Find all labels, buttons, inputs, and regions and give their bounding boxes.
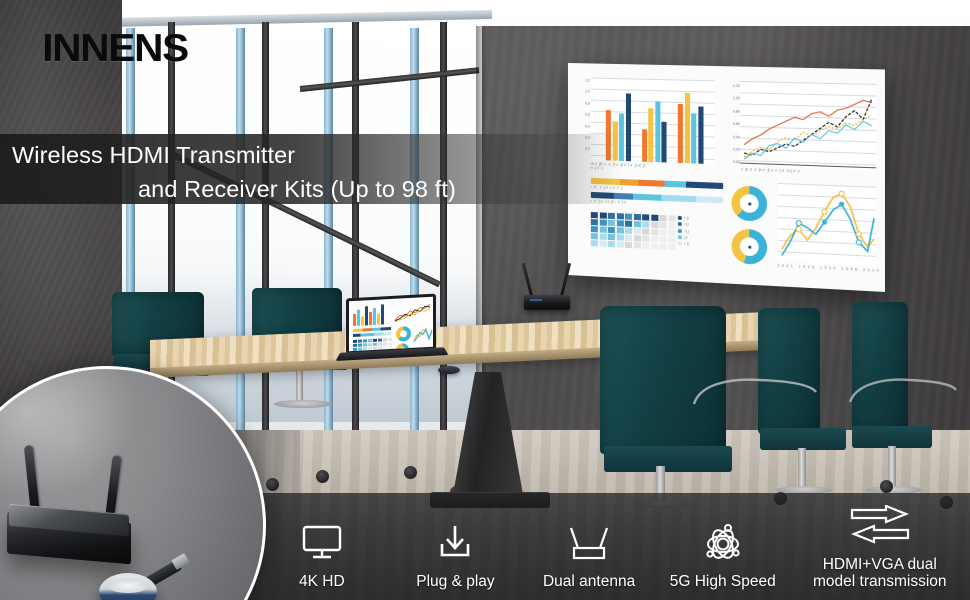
chair-caster — [880, 480, 893, 493]
feature-label: HDMI+VGA dual model transmission — [813, 556, 947, 590]
bar-group — [678, 79, 703, 163]
chart-legend: ı,˙ʃl ı˙ʃ,l ˙ıl,ʃ ʃ,ıl˙ ı,˙ʃl — [678, 216, 689, 249]
feature-label: Dual antenna — [543, 573, 635, 590]
laptop-lid — [346, 294, 436, 355]
receiver-product — [7, 501, 131, 559]
feature-dual-antenna: Dual antenna — [522, 520, 656, 600]
chair-caster — [316, 470, 329, 483]
feature-label: 5G High Speed — [670, 573, 776, 590]
feature-hdmi-vga-dual: HDMI+VGA dual model transmission — [790, 503, 970, 600]
feature-4k-hd: 4K HD — [255, 520, 389, 600]
feature-label-line-1: HDMI+VGA dual — [823, 556, 937, 573]
status-led — [530, 299, 542, 301]
chart-donut-2 — [732, 228, 768, 265]
monitor-icon — [301, 520, 343, 566]
chair-caster — [266, 478, 279, 491]
feature-list: 4K HD Plug & play Dual antenna — [255, 493, 970, 600]
window-mullion — [324, 28, 333, 492]
window-mullion — [410, 28, 419, 492]
headline-line-1: Wireless HDMI Transmitter — [0, 138, 640, 172]
chart-wave — [778, 183, 877, 266]
chart-donut-1 — [732, 185, 768, 221]
window-mullion — [236, 28, 245, 492]
headline: Wireless HDMI Transmitter and Receiver K… — [0, 134, 640, 204]
table-puck — [438, 366, 460, 374]
feature-5g-high-speed: 5G High Speed — [656, 520, 790, 600]
window-mullion-dark — [262, 22, 269, 492]
line-series-svg — [740, 81, 876, 170]
transmitter-product — [99, 557, 203, 600]
feature-plug-and-play: Plug & play — [389, 520, 523, 600]
laptop-screen — [349, 297, 433, 351]
feature-label-line-2: model transmission — [813, 573, 947, 590]
headline-line-2: and Receiver Kits (Up to 98 ft) — [0, 172, 640, 206]
window-mullion-dark — [352, 22, 359, 492]
window-mullion-dark — [440, 22, 447, 492]
feature-label: 4K HD — [299, 573, 345, 590]
laptop — [340, 296, 436, 368]
wall-mounted-receiver — [524, 286, 570, 310]
chart-heatmap — [591, 212, 675, 250]
chair-caster — [404, 466, 417, 479]
product-banner: 1,21,0 0,80,6 0,40,2 0,0 ıll ıl˙ ʃſlı ıl… — [0, 0, 970, 600]
chair-armrest — [690, 370, 820, 410]
chart-line — [740, 81, 876, 170]
router-antenna-icon — [566, 520, 612, 566]
download-tray-icon — [434, 520, 476, 566]
atom-orbit-icon — [701, 520, 745, 566]
wave-series-svg — [778, 183, 877, 266]
brand-logo: INNENS — [42, 27, 188, 71]
feature-label: Plug & play — [416, 573, 494, 590]
two-way-arrows-icon — [850, 503, 910, 549]
bar-group — [642, 79, 667, 163]
receiver-body — [524, 295, 570, 310]
chair-armrest — [848, 372, 958, 408]
chart-line-yaxis: 1,201,00 0,800,60 0,400,20 0,00 — [727, 85, 740, 165]
